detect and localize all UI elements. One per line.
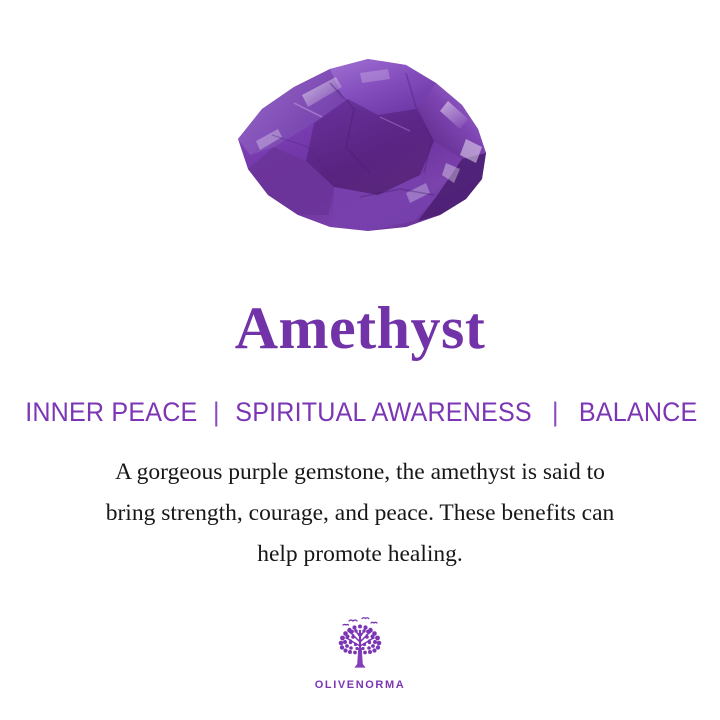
page-title: Amethyst [0,296,720,360]
description-line: help promote healing. [50,534,670,575]
tagline-item-spiritual-awareness: SPIRITUAL AWARENESS [235,397,532,427]
tagline-item-balance: BALANCE [579,397,698,427]
tagline-item-inner-peace: INNER PEACE [25,397,197,427]
raw-amethyst-crystal-icon [210,43,510,243]
tagline-separator: | [539,396,572,428]
description-line: bring strength, courage, and peace. Thes… [50,493,670,534]
keyword-tagline: INNER PEACE | SPIRITUAL AWARENESS | BALA… [25,396,695,428]
gemstone-image [0,0,720,285]
amethyst-info-card: Amethyst INNER PEACE | SPIRITUAL AWARENE… [0,0,720,720]
description-text: A gorgeous purple gemstone, the amethyst… [50,452,670,575]
tree-icon [329,614,391,676]
description-line: A gorgeous purple gemstone, the amethyst… [50,452,670,493]
brand-logo: OLIVENORMA [0,614,720,691]
tagline-separator: | [205,396,228,428]
brand-name: OLIVENORMA [315,679,406,691]
